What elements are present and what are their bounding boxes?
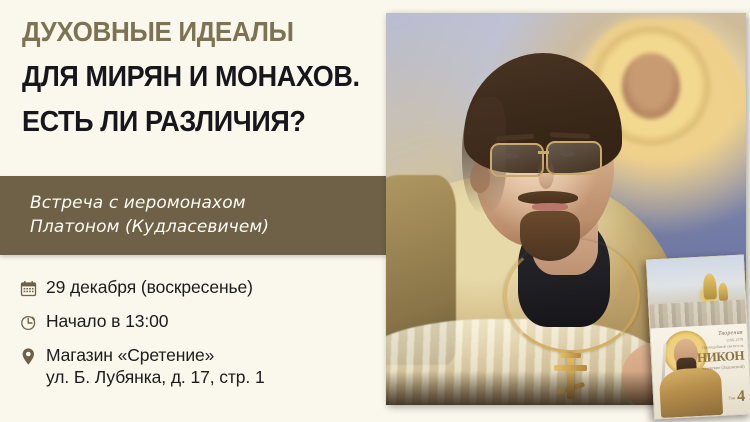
title-line-2: ДЛЯ МИРЯН И МОНАХОВ. [22,63,357,93]
event-poster: ДУХОВНЫЕ ИДЕАЛЫ ДЛЯ МИРЯН И МОНАХОВ. ЕСТ… [0,0,750,422]
subtitle-band: Встреча с иеромонахом Платоном (Кудласев… [0,176,388,255]
book-volume: Том4 [728,388,746,407]
detail-row-date: 29 декабря (воскресенье) [20,276,380,299]
priest-nose [538,159,554,189]
book-saint-robe [659,367,723,418]
subtitle-line-2: Платоном (Кудласевичем) [30,215,269,239]
priest-glasses-right-lens [546,141,602,175]
book-volume-label: Том [728,395,735,400]
title-block: ДУХОВНЫЕ ИДЕАЛЫ ДЛЯ МИРЯН И МОНАХОВ. ЕСТ… [22,18,382,138]
detail-text-time: Начало в 13:00 [46,310,168,332]
priest-glasses-left-lens [490,143,544,177]
title-line-3: ЕСТЬ ЛИ РАЗЛИЧИЯ? [22,108,357,138]
priest-cross-top-bar [560,353,581,358]
title-line-1: ДУХОВНЫЕ ИДЕАЛЫ [22,18,357,47]
priest-lips [532,203,568,211]
icon-fresco-face [622,53,680,119]
event-details: 29 декабря (воскресенье) Начало в 13:00 [20,276,380,389]
location-pin-icon [20,344,46,367]
calendar-icon [20,276,46,299]
book-cover-text: Творения 1186-1570 Преподобный святитель… [687,330,745,372]
subtitle-text: Встреча с иеромонахом Платоном (Кудласев… [30,191,269,239]
detail-row-time: Начало в 13:00 [20,310,380,333]
book-title: НИКОН [688,349,745,365]
priest-glasses-bridge [538,151,549,154]
clock-icon [20,310,46,333]
detail-location-name: Магазин «Сретение» [46,345,214,365]
subtitle-line-1: Встреча с иеромонахом [30,191,269,215]
detail-text-location: Магазин «Сретение» ул. Б. Лубянка, д. 17… [46,344,265,389]
book-cover: Творения 1186-1570 Преподобный святитель… [646,255,750,420]
detail-row-location: Магазин «Сретение» ул. Б. Лубянка, д. 17… [20,344,380,389]
book-volume-number: 4 [737,388,746,405]
detail-location-address: ул. Б. Лубянка, д. 17, стр. 1 [46,366,265,388]
priest-beard [520,211,580,261]
priest-pectoral-chain [504,239,640,353]
detail-text-date: 29 декабря (воскресенье) [46,276,253,298]
